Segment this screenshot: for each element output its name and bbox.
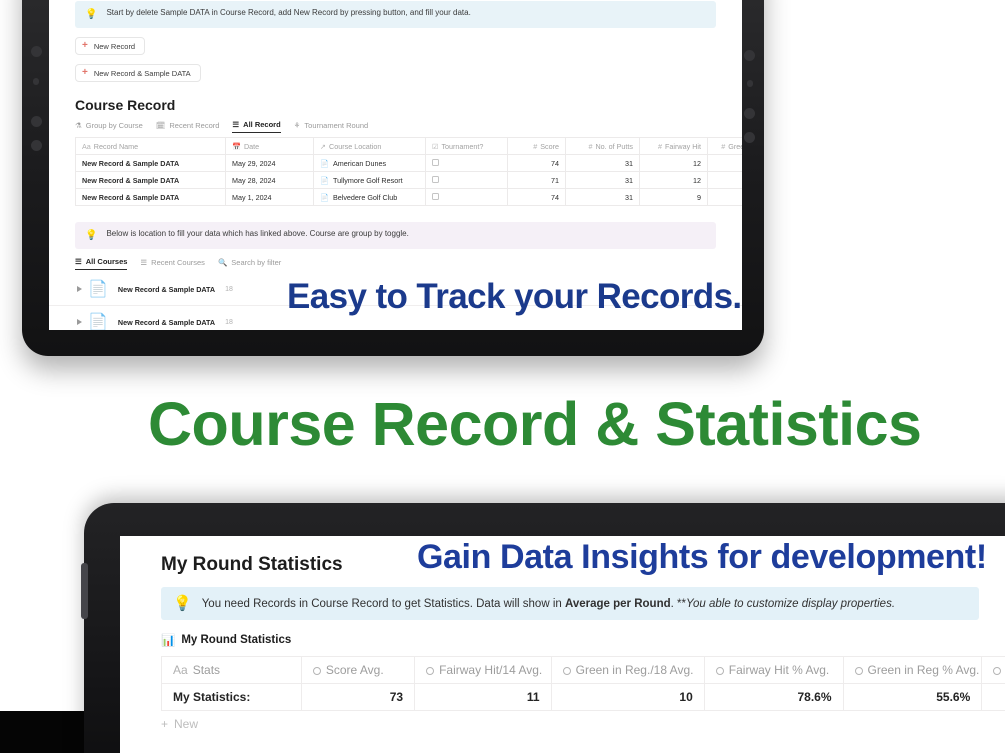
table-row[interactable]: New Record & Sample DATA May 1, 2024 📄Be…	[76, 189, 743, 206]
new-statistics-row-button[interactable]: +New	[161, 717, 1005, 731]
device-volume-down[interactable]	[31, 140, 42, 151]
cell-fairway-hit: 12	[640, 155, 708, 172]
new-record-sample-button[interactable]: + New Record & Sample DATA	[75, 64, 201, 82]
view-tab-all-courses[interactable]: ☰ All Courses	[75, 257, 127, 270]
lightbulb-icon: 💡	[85, 8, 97, 21]
lightbulb-icon: 💡	[173, 596, 192, 611]
col-score-avg[interactable]: Score Avg.	[301, 657, 414, 684]
cell-date: May 29, 2024	[226, 155, 314, 172]
rollup-icon	[855, 667, 863, 675]
number-icon: #	[533, 142, 537, 151]
cell-fairway-pct-avg: 78.6%	[704, 684, 843, 711]
cell-putts: 31	[566, 155, 640, 172]
calendar-icon: 📅	[232, 142, 241, 151]
bar-chart-icon: 📊	[161, 633, 175, 647]
lightbulb-icon: 💡	[85, 229, 97, 242]
cell-score-avg: 73	[301, 684, 414, 711]
cell-green-in-reg: 10	[708, 172, 743, 189]
cell-green-in-reg: 9	[708, 155, 743, 172]
rollup-icon	[993, 667, 1001, 675]
text-type-icon: Aa	[82, 142, 91, 151]
bottom-device-shadow	[0, 711, 84, 753]
new-record-sample-button-label: New Record & Sample DATA	[94, 69, 191, 78]
cell-fairway-hit: 9	[640, 189, 708, 206]
callout-start-text: Start by delete Sample DATA in Course Re…	[106, 8, 470, 19]
number-icon: #	[721, 142, 725, 151]
rollup-icon	[426, 667, 434, 675]
callout-start: 💡 Start by delete Sample DATA in Course …	[75, 1, 716, 28]
checkbox-icon[interactable]	[432, 176, 439, 183]
new-record-button-label: New Record	[94, 42, 135, 51]
cell-putts: 31	[566, 189, 640, 206]
callout-statistics-text: You need Records in Course Record to get…	[202, 598, 895, 610]
database-title: Course Record	[75, 97, 742, 113]
list-item-label: New Record & Sample DATA	[118, 285, 215, 294]
view-tab-label: All Record	[243, 120, 281, 129]
view-tab-recent-courses[interactable]: ☰ Recent Courses	[140, 258, 205, 270]
list-item-label: New Record & Sample DATA	[118, 318, 215, 327]
cell-tournament[interactable]	[426, 155, 508, 172]
cell-fairway-hit-avg: 11	[415, 684, 552, 711]
col-putts[interactable]: #No. of Putts	[566, 138, 640, 155]
table-row[interactable]: New Record & Sample DATA May 29, 2024 📄A…	[76, 155, 743, 172]
table-row[interactable]: New Record & Sample DATA May 28, 2024 📄T…	[76, 172, 743, 189]
page-icon: 📄	[320, 176, 329, 185]
statistics-table: AaStats Score Avg. Fairway Hit/14 Avg. G…	[161, 656, 1005, 711]
view-tab-label: Recent Courses	[151, 258, 205, 267]
device-volume-button[interactable]	[81, 563, 88, 619]
col-fairway-hit-avg[interactable]: Fairway Hit/14 Avg.	[415, 657, 552, 684]
inline-database-header[interactable]: 📊 My Round Statistics	[161, 633, 1005, 647]
cell-date: May 1, 2024	[226, 189, 314, 206]
overlay-headline-gain-insights: Gain Data Insights for development!	[417, 538, 987, 577]
view-tab-search-filter[interactable]: 🔍 Search by filter	[218, 258, 281, 270]
col-stats[interactable]: AaStats	[162, 657, 302, 684]
callout-below-text: Below is location to fill your data whic…	[106, 229, 408, 240]
overlay-headline-easy-to-track: Easy to Track your Records.	[287, 277, 742, 317]
col-green-pct-avg[interactable]: Green in Reg % Avg.	[843, 657, 982, 684]
view-tab-label: Search by filter	[231, 258, 281, 267]
cell-location: 📄American Dunes	[314, 155, 426, 172]
screenshot-stage: 📙 Course Record & Statistic 💡 Start by d…	[0, 0, 1005, 753]
table-header-row: AaStats Score Avg. Fairway Hit/14 Avg. G…	[162, 657, 1005, 684]
col-tournament[interactable]: ☑Tournament?	[426, 138, 508, 155]
table-header-row: AaRecord Name 📅Date ↗Course Location ☑To…	[76, 138, 743, 155]
course-view-tabs: ☰ All Courses ☰ Recent Courses 🔍 Search …	[75, 257, 742, 270]
rollup-icon	[716, 667, 724, 675]
database-view-tabs: ⚗ Group by Course 🗓 Recent Record ☰ All …	[75, 120, 742, 133]
view-tab-tournament-round[interactable]: ⚘ Tournament Round	[294, 121, 369, 133]
col-putt-avg[interactable]: Putt Avg.	[982, 657, 1005, 684]
new-record-button[interactable]: + New Record	[75, 37, 145, 55]
search-icon: 🔍	[218, 258, 227, 267]
chevron-right-icon[interactable]	[77, 319, 82, 325]
cell-score: 71	[508, 172, 566, 189]
cell-stats-name: My Statistics:	[162, 684, 302, 711]
list-icon: ☰	[232, 120, 239, 129]
plus-icon: +	[82, 68, 88, 78]
table-row[interactable]: My Statistics: 73 11 10 78.6% 55.6% 31	[162, 684, 1005, 711]
view-tab-label: Tournament Round	[304, 121, 368, 130]
device-camera	[33, 78, 39, 85]
device-volume-up[interactable]	[31, 116, 42, 127]
cell-green-in-reg-avg: 10	[551, 684, 704, 711]
list-icon: ☰	[75, 257, 82, 266]
page-icon: 📄	[320, 193, 329, 202]
text-type-icon: Aa	[173, 663, 188, 677]
cell-green-in-reg: 11	[708, 189, 743, 206]
calendar-icon: 🗓	[156, 121, 166, 130]
cell-record-name: New Record & Sample DATA	[76, 172, 226, 189]
device-button-right-mid[interactable]	[744, 108, 755, 119]
view-tab-recent-record[interactable]: 🗓 Recent Record	[156, 121, 220, 133]
cell-fairway-hit: 12	[640, 172, 708, 189]
list-item-count: 18	[225, 286, 233, 293]
cell-tournament[interactable]	[426, 172, 508, 189]
view-tab-label: All Courses	[86, 257, 128, 266]
page-icon: 📄	[88, 312, 108, 330]
checkbox-icon: ☑	[432, 142, 438, 151]
cell-record-name: New Record & Sample DATA	[76, 155, 226, 172]
col-green-in-reg-avg[interactable]: Green in Reg./18 Avg.	[551, 657, 704, 684]
cell-location: 📄Belvedere Golf Club	[314, 189, 426, 206]
trophy-icon: ⚘	[294, 121, 301, 130]
checkbox-icon[interactable]	[432, 159, 439, 166]
cell-putts: 31	[566, 172, 640, 189]
inline-database-label: My Round Statistics	[181, 634, 291, 646]
device-button-right-top[interactable]	[744, 50, 755, 61]
view-tab-group-by-course[interactable]: ⚗ Group by Course	[75, 121, 143, 133]
new-row-label: New	[174, 717, 198, 731]
page-icon: 📄	[88, 279, 108, 299]
relation-icon: ↗	[320, 142, 326, 151]
view-tab-label: Recent Record	[169, 121, 219, 130]
chevron-right-icon[interactable]	[77, 286, 82, 292]
cell-date: May 28, 2024	[226, 172, 314, 189]
col-fairway-hit[interactable]: #Fairway Hit	[640, 138, 708, 155]
checkbox-icon[interactable]	[432, 193, 439, 200]
page-icon: 📄	[320, 159, 329, 168]
cell-green-pct-avg: 55.6%	[843, 684, 982, 711]
callout-below: 💡 Below is location to fill your data wh…	[75, 222, 716, 249]
list-icon: ☰	[140, 258, 147, 267]
cell-score: 74	[508, 189, 566, 206]
device-sensor	[747, 80, 753, 87]
plus-icon: +	[82, 41, 88, 51]
col-score[interactable]: #Score	[508, 138, 566, 155]
list-item-count: 18	[225, 319, 233, 326]
device-button-right-bot[interactable]	[744, 132, 755, 143]
view-tab-all-record[interactable]: ☰ All Record	[232, 120, 280, 133]
rollup-icon	[313, 667, 321, 675]
cell-record-name: New Record & Sample DATA	[76, 189, 226, 206]
plus-icon: +	[161, 717, 168, 731]
cell-score: 74	[508, 155, 566, 172]
course-record-table: AaRecord Name 📅Date ↗Course Location ☑To…	[75, 137, 742, 206]
col-date[interactable]: 📅Date	[226, 138, 314, 155]
overlay-headline-main: Course Record & Statistics	[148, 389, 921, 459]
col-green-in-reg[interactable]: #Green in Reg.	[708, 138, 743, 155]
col-course-location[interactable]: ↗Course Location	[314, 138, 426, 155]
device-button-top[interactable]	[31, 46, 42, 57]
rollup-icon	[563, 667, 571, 675]
number-icon: #	[658, 142, 662, 151]
col-record-name[interactable]: AaRecord Name	[76, 138, 226, 155]
view-tab-label: Group by Course	[86, 121, 143, 130]
callout-statistics: 💡 You need Records in Course Record to g…	[161, 587, 979, 620]
cell-location: 📄Tullymore Golf Resort	[314, 172, 426, 189]
group-icon: ⚗	[75, 121, 82, 130]
cell-tournament[interactable]	[426, 189, 508, 206]
col-fairway-pct-avg[interactable]: Fairway Hit % Avg.	[704, 657, 843, 684]
cell-putt-avg: 31	[982, 684, 1005, 711]
number-icon: #	[588, 142, 592, 151]
